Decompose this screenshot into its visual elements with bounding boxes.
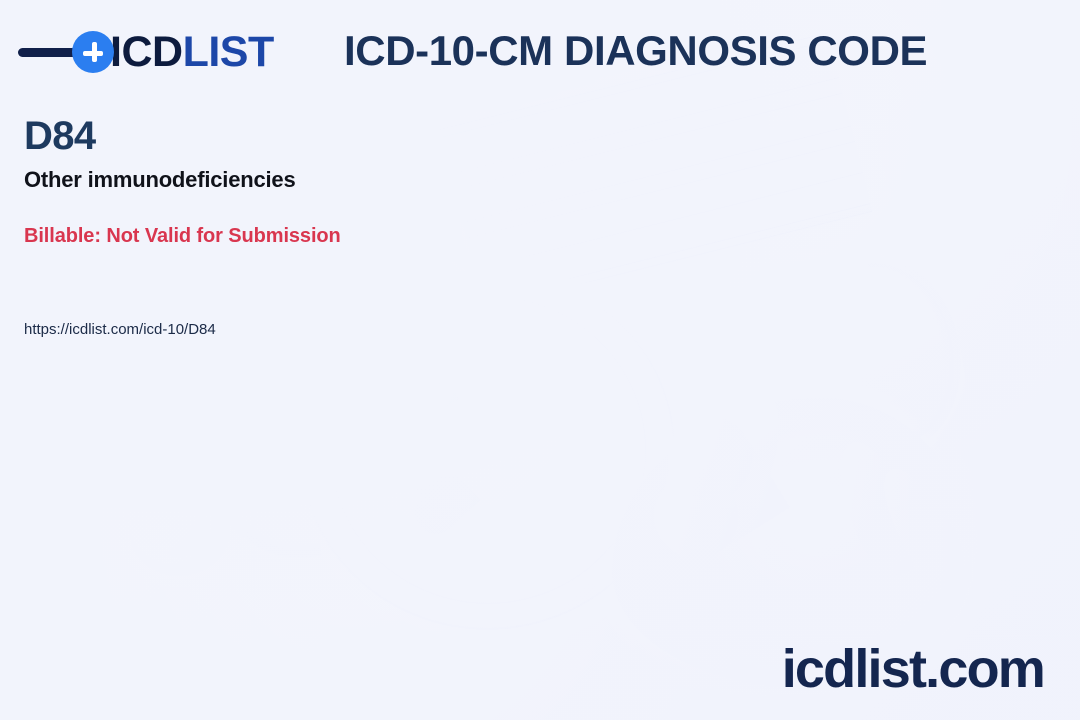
page-title: ICD-10-CM DIAGNOSIS CODE xyxy=(344,30,927,72)
source-url[interactable]: https://icdlist.com/icd-10/D84 xyxy=(24,321,216,339)
icdlist-logo[interactable]: ICD LIST xyxy=(18,28,274,76)
diagnosis-description: Other immunodeficiencies xyxy=(24,167,296,193)
dash-icon xyxy=(18,48,78,57)
site-watermark: icdlist.com xyxy=(782,642,1044,696)
logo-wordmark: ICD LIST xyxy=(110,31,274,74)
content-layer: ICD LIST ICD-10-CM DIAGNOSIS CODE D84 Ot… xyxy=(0,0,1080,720)
plus-circle-icon xyxy=(72,31,114,73)
icd-code-card: ICD LIST ICD-10-CM DIAGNOSIS CODE D84 Ot… xyxy=(0,0,1080,720)
logo-word-list: LIST xyxy=(183,31,274,74)
plus-vertical-bar xyxy=(92,42,97,62)
diagnosis-code: D84 xyxy=(24,116,96,156)
logo-word-icd: ICD xyxy=(110,31,183,74)
billable-status-badge: Billable: Not Valid for Submission xyxy=(24,224,341,248)
